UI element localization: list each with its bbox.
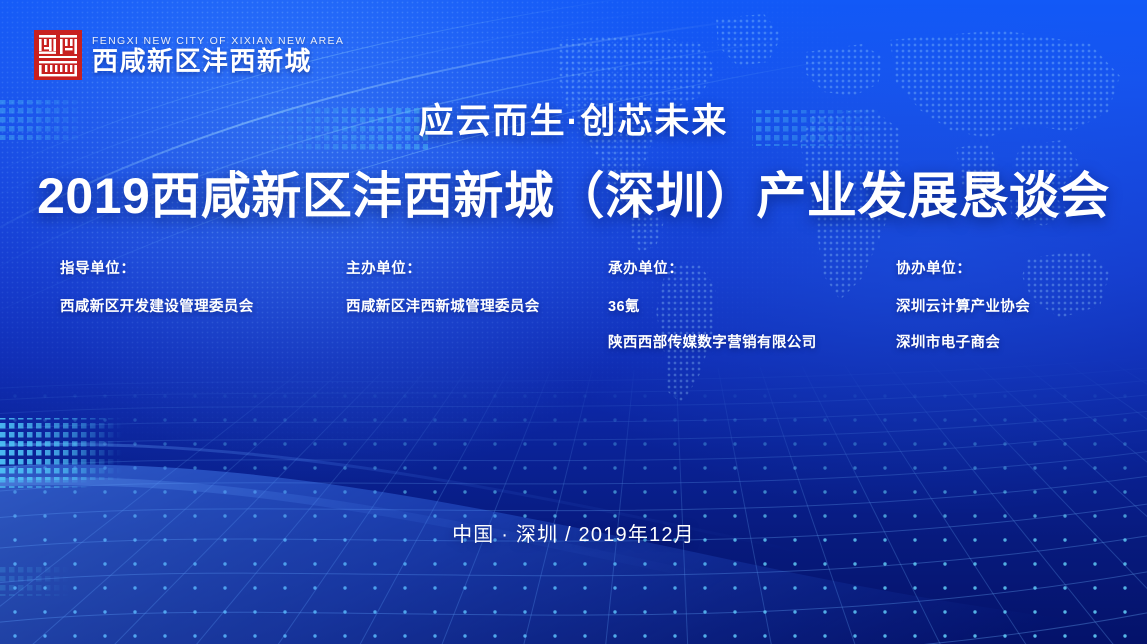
event-title: 2019西咸新区沣西新城（深圳）产业发展恳谈会 (0, 168, 1147, 224)
logo-chinese-name: 西咸新区沣西新城 (92, 48, 344, 75)
fengxi-seal-icon (34, 30, 82, 80)
location-date: 中国 · 深圳 / 2019年12月 (0, 518, 1147, 547)
organizer-heading: 指导单位： (60, 262, 346, 277)
event-subtitle: 应云而生·创芯未来 (0, 104, 1147, 139)
organizer-column-guidance: 指导单位： 西咸新区开发建设管理委员会 (60, 262, 346, 351)
organizer-heading: 承办单位： (608, 262, 896, 277)
organizer-item: 陕西西部传媒数字营销有限公司 (608, 336, 896, 351)
organizer-item: 深圳云计算产业协会 (896, 300, 1030, 315)
organizer-heading: 主办单位： (346, 262, 608, 277)
organizer-heading: 协办单位： (896, 262, 1030, 277)
organizer-columns: 指导单位： 西咸新区开发建设管理委员会 主办单位： 西咸新区沣西新城管理委员会 … (0, 262, 1147, 351)
brand-logo[interactable]: FENGXI NEW CITY OF XIXIAN NEW AREA 西咸新区沣… (34, 30, 344, 80)
organizer-item: 西咸新区沣西新城管理委员会 (346, 300, 608, 315)
poster-content: 应云而生·创芯未来 2019西咸新区沣西新城（深圳）产业发展恳谈会 指导单位： … (0, 0, 1147, 644)
organizer-column-host: 主办单位： 西咸新区沣西新城管理委员会 (346, 262, 608, 351)
organizer-item: 深圳市电子商会 (896, 336, 1030, 351)
organizer-item: 36氪 (608, 300, 896, 315)
event-poster: FENGXI NEW CITY OF XIXIAN NEW AREA 西咸新区沣… (0, 0, 1147, 644)
organizer-item: 西咸新区开发建设管理委员会 (60, 300, 346, 315)
organizer-column-co-organizer: 协办单位： 深圳云计算产业协会 深圳市电子商会 (896, 262, 1030, 351)
organizer-column-organizer: 承办单位： 36氪 陕西西部传媒数字营销有限公司 (608, 262, 896, 351)
